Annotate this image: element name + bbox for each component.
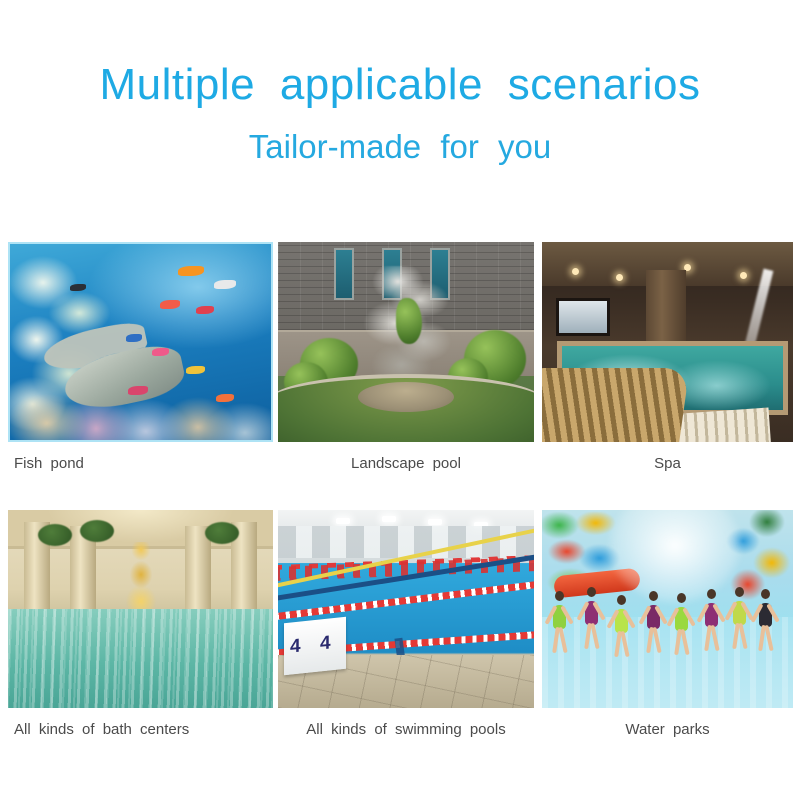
swimmer [552, 589, 567, 653]
fish [186, 366, 205, 374]
ceiling-light [740, 272, 747, 279]
swimmer [704, 587, 719, 651]
ceiling-light [616, 274, 623, 281]
leg [620, 630, 629, 656]
starting-block-number: 4 [290, 636, 301, 659]
lounge-chair [542, 368, 690, 442]
leg [558, 626, 567, 652]
card-caption: Landscape pool [278, 442, 534, 472]
swimming-pool-image: 4 4 [278, 510, 534, 708]
reed-plant [396, 298, 422, 344]
fish [152, 348, 169, 356]
card-caption: All kinds of swimming pools [278, 708, 534, 738]
ceiling-light [572, 268, 579, 275]
potted-plant [38, 524, 72, 546]
swimmer [614, 593, 629, 657]
window [334, 248, 354, 300]
fish-pond-image [8, 242, 273, 442]
scenario-card-fish-pond[interactable]: Fish pond [8, 242, 273, 472]
wall-tv [556, 298, 610, 336]
fish [178, 266, 204, 276]
swimmer [758, 587, 773, 651]
scenario-card-swimming-pools[interactable]: 4 4 All kinds of swimming pools [278, 510, 534, 738]
water-park-image [542, 510, 793, 708]
spectator-stands [278, 526, 534, 558]
fish [126, 334, 142, 342]
fish [70, 284, 86, 291]
ceiling-light [428, 519, 442, 525]
scenario-card-water-parks[interactable]: Water parks [542, 510, 793, 738]
card-caption: Fish pond [8, 442, 273, 472]
head [617, 595, 626, 605]
leg [680, 628, 689, 654]
head [707, 589, 716, 599]
starting-block-number: 4 [320, 632, 331, 655]
swimmer [732, 585, 747, 649]
fish [196, 306, 214, 314]
leg [738, 622, 747, 648]
card-caption: Spa [542, 442, 793, 472]
card-caption: Water parks [542, 708, 793, 738]
scenario-card-bath-centers[interactable]: All kinds of bath centers [8, 510, 273, 738]
landscape-pool-image [278, 242, 534, 442]
leg [710, 624, 719, 650]
head [677, 593, 686, 603]
scenario-card-spa[interactable]: Spa [542, 242, 793, 472]
head [761, 589, 770, 599]
swimmer [584, 585, 599, 649]
starting-block: 4 4 [284, 617, 346, 676]
card-caption: All kinds of bath centers [8, 708, 273, 738]
head [587, 587, 596, 597]
wave-pool-water [542, 617, 793, 708]
swimmer [646, 589, 661, 653]
column [185, 526, 211, 617]
leg [652, 626, 661, 652]
fish [128, 386, 148, 395]
fountain-basin [358, 382, 454, 412]
heading-block: Multiple applicable scenarios Tailor-mad… [0, 0, 800, 165]
fish [216, 394, 234, 402]
gallery-row: Fish pond Landscape pool [8, 242, 793, 472]
potted-plant [205, 522, 239, 544]
swimmer [674, 591, 689, 655]
leg [764, 624, 773, 650]
scenario-gallery: Fish pond Landscape pool [8, 242, 793, 738]
fish [214, 280, 236, 289]
bath-water [8, 609, 273, 708]
gallery-row: All kinds of bath centers [8, 510, 793, 738]
head [735, 587, 744, 597]
lane-rope [278, 579, 534, 621]
head [649, 591, 658, 601]
spa-image [542, 242, 793, 442]
fish [160, 300, 180, 309]
leg [590, 622, 599, 648]
page-title: Multiple applicable scenarios [0, 62, 800, 108]
page-subtitle: Tailor-made for you [0, 130, 800, 165]
head [555, 591, 564, 601]
ceiling-light [336, 518, 350, 524]
bath-center-image [8, 510, 273, 708]
ceiling-light [382, 516, 396, 522]
scenario-card-landscape-pool[interactable]: Landscape pool [278, 242, 534, 472]
potted-plant [80, 520, 114, 542]
